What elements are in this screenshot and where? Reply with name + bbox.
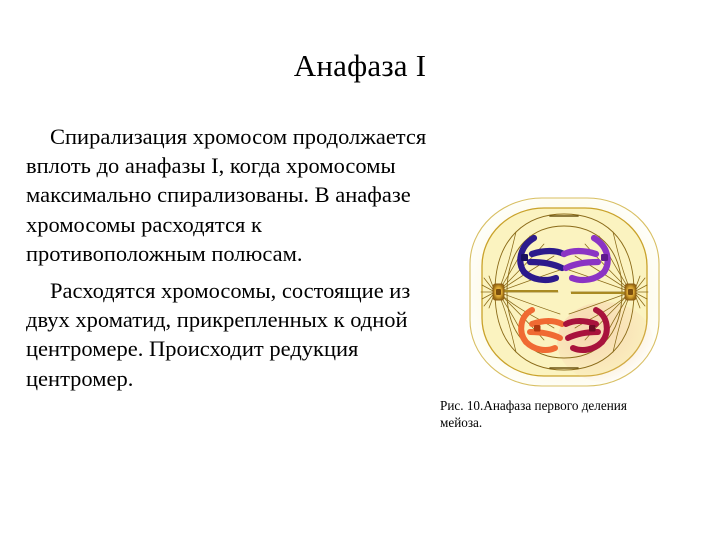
slide-canvas: Анафаза I Спирализация хромосом продолжа… (0, 0, 720, 540)
page-title: Анафаза I (0, 48, 720, 84)
chromosome-bottom-right-centromere (589, 325, 596, 332)
figure-block: Рис. 10.Анафаза первого деления мейоза. (440, 192, 690, 422)
body-text-block: Спирализация хромосом продолжается вплот… (26, 122, 434, 393)
body-paragraph-1: Спирализация хромосом продолжается вплот… (26, 122, 434, 268)
anaphase-i-cell-diagram (462, 192, 667, 392)
chromosome-top-left-centromere (521, 254, 528, 261)
figure-caption: Рис. 10.Анафаза первого деления мейоза. (440, 398, 670, 431)
body-paragraph-2: Расходятся хромосомы, состоящие из двух … (26, 276, 434, 393)
chromosome-top-right-centromere (601, 254, 608, 261)
chromosome-bottom-left-centromere (534, 325, 541, 332)
